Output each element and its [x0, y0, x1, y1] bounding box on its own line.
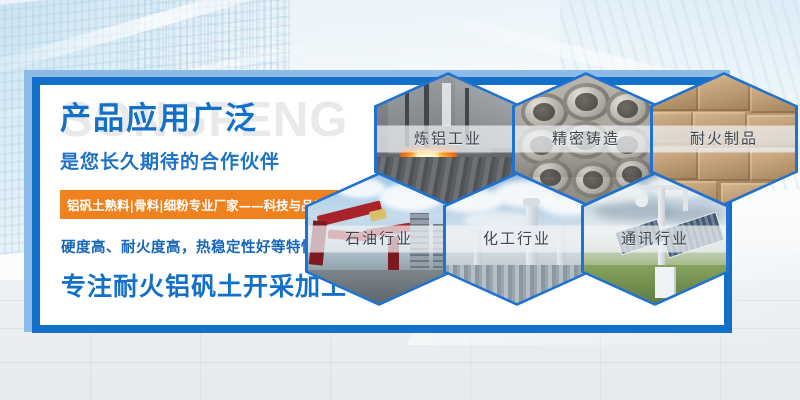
- promotional-banner: SONGFENG 产品应用广泛 是您长久期待的合作伙伴 铝矾土熟料|骨料|细粉专…: [0, 0, 800, 400]
- industry-hexagon-grid: 炼铝工业 精密铸造: [0, 0, 800, 400]
- hex-label: 化工行业: [446, 226, 588, 253]
- hex-label: 耐火制品: [653, 126, 795, 153]
- hex-label: 炼铝工业: [377, 126, 519, 153]
- hex-label: 精密铸造: [515, 126, 657, 153]
- hex-label: 石油行业: [308, 226, 450, 253]
- hex-label: 通讯行业: [584, 226, 726, 253]
